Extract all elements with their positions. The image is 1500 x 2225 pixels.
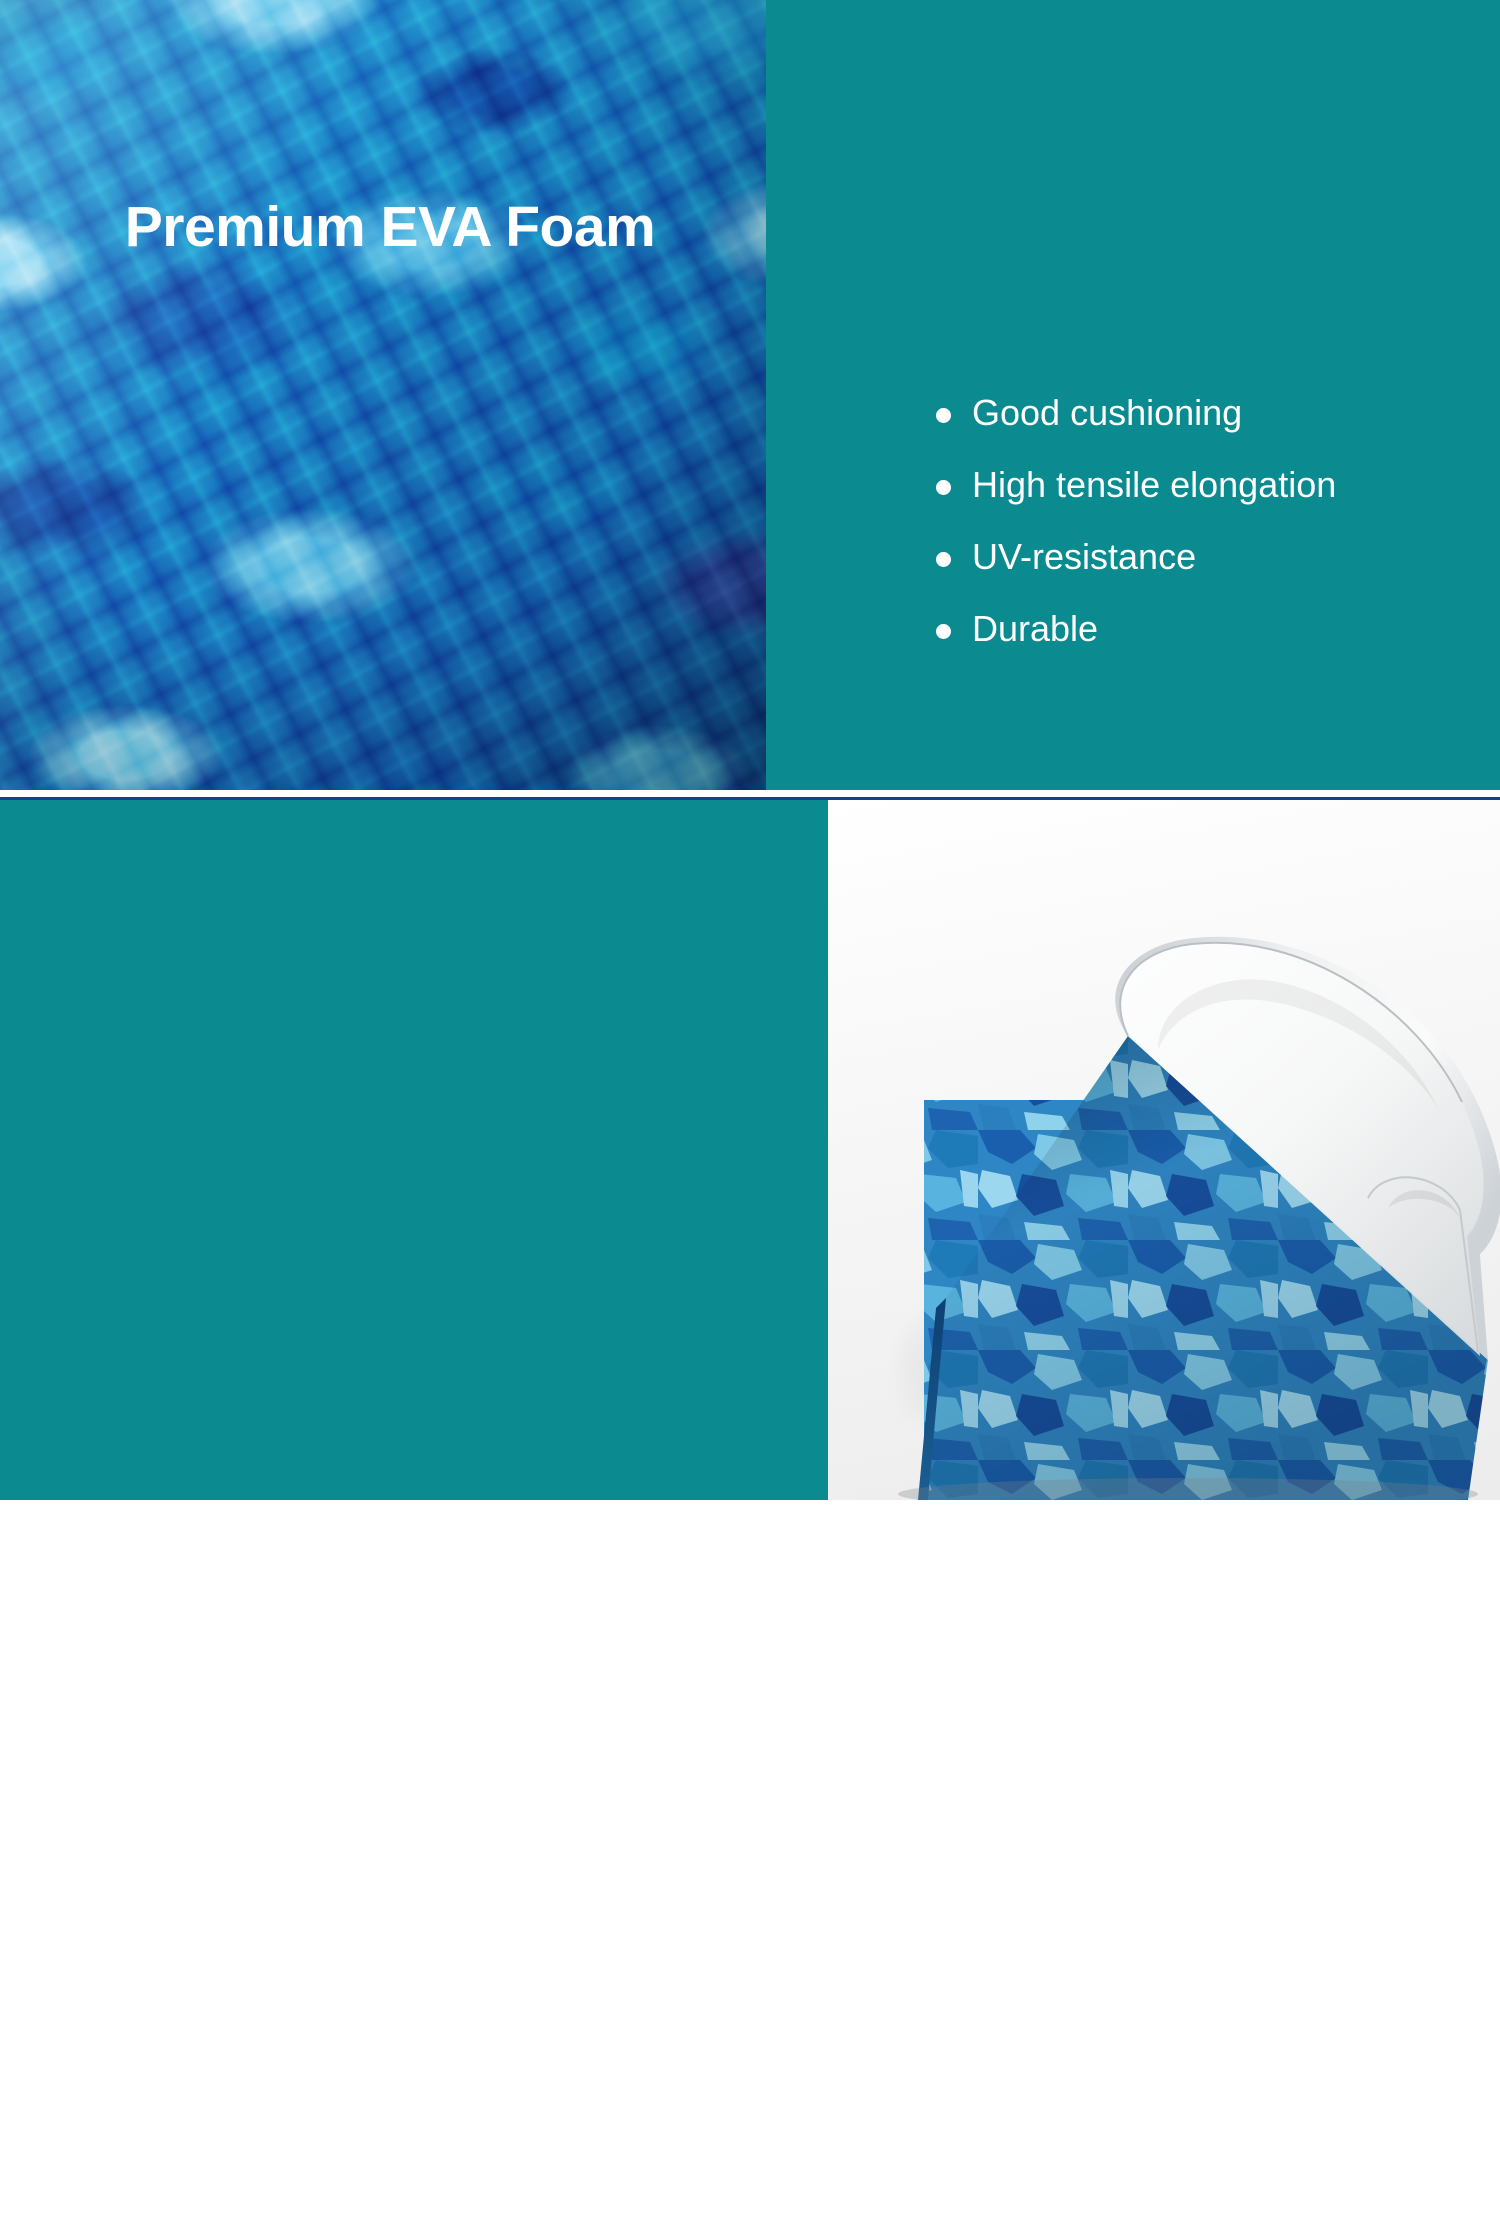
list-item: Durable (930, 611, 1490, 647)
feature-label: High tensile elongation (972, 464, 1336, 505)
list-item: Easy to install (108, 2126, 808, 2163)
bullet-icon (936, 624, 951, 639)
eva-foam-texture-photo (0, 0, 766, 790)
feature-label: Not easy to peel off (154, 2025, 472, 2066)
list-item: Not easy to peel off (108, 2027, 808, 2064)
bottom-section: Strong Self-adhesive Extremely sticky No… (0, 800, 1500, 1500)
bullet-icon (112, 2140, 126, 2154)
feature-label: UV-resistance (972, 536, 1196, 577)
top-heading: Premium EVA Foam (60, 196, 720, 259)
feature-label: Durable (972, 608, 1098, 649)
bottom-feature-list: Extremely sticky Not easy to peel off Ea… (108, 1928, 808, 2225)
peeling-sheet-svg (828, 800, 1500, 1500)
product-feature-poster: Premium EVA Foam Good cushioning High te… (0, 0, 1500, 1500)
bullet-icon (112, 2041, 126, 2055)
feature-label: Good cushioning (972, 392, 1242, 433)
photo-vignette (0, 0, 766, 790)
top-section: Premium EVA Foam Good cushioning High te… (0, 0, 1500, 790)
list-item: Good cushioning (930, 395, 1490, 431)
feature-label: Easy to install (154, 2124, 382, 2165)
bottom-heading: Strong Self-adhesive (28, 1760, 828, 1822)
bullet-icon (112, 1942, 126, 1956)
bullet-icon (936, 480, 951, 495)
list-item: High tensile elongation (930, 467, 1490, 503)
top-feature-list: Good cushioning High tensile elongation … (930, 395, 1490, 683)
list-item: UV-resistance (930, 539, 1490, 575)
foam-sheet-illustration (828, 800, 1500, 1500)
bullet-icon (936, 552, 951, 567)
list-item: Extremely sticky (108, 1928, 808, 1965)
adhesive-backing-photo (828, 800, 1500, 1500)
bullet-icon (936, 408, 951, 423)
feature-label: Extremely sticky (154, 1926, 421, 1967)
bottom-text-panel (0, 800, 828, 1500)
